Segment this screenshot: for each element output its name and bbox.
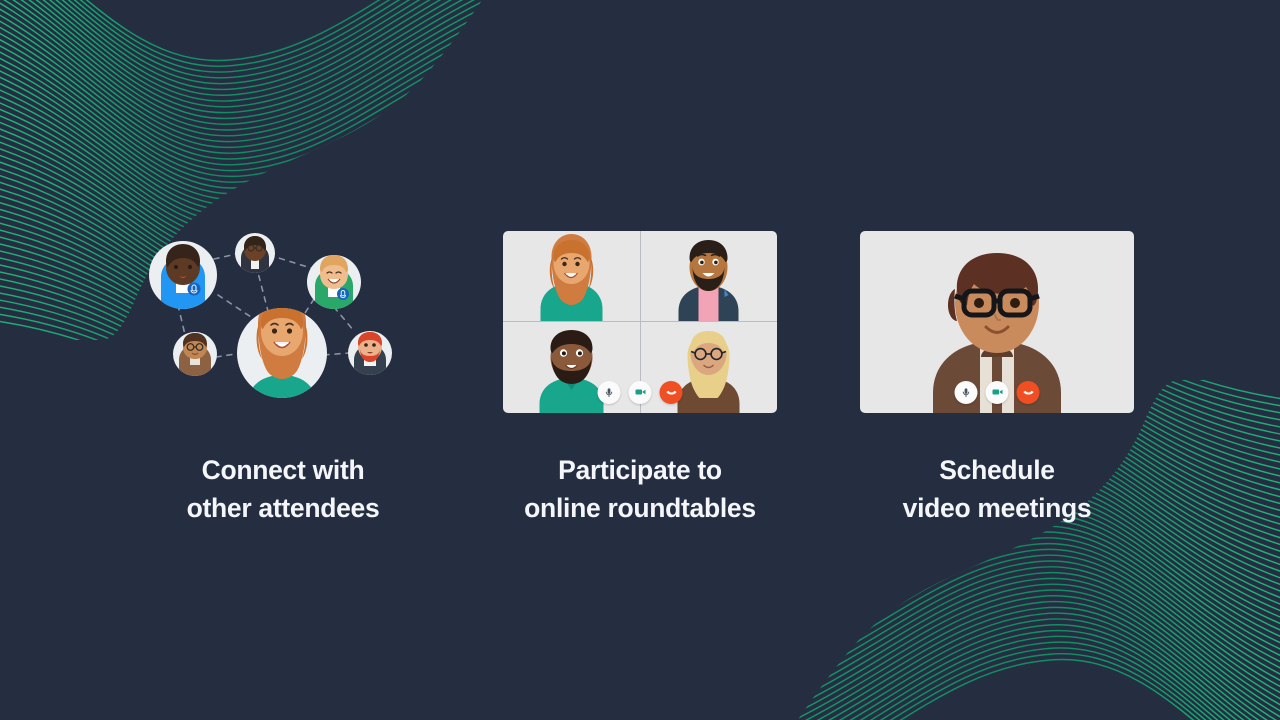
call-controls-grid [598,381,683,404]
camera-button[interactable] [986,381,1009,404]
microphone-icon [604,387,615,398]
avatar-man-green [307,255,361,311]
hangup-button[interactable] [660,381,683,404]
video-camera-icon [991,386,1003,398]
feature-caption-roundtables: Participate to online roundtables [524,452,756,527]
video-tile-top-left[interactable] [503,231,640,322]
four-person-video-grid [503,214,777,429]
camera-button[interactable] [629,381,652,404]
avatar-woman-glasses-top [235,233,275,274]
video-camera-icon [634,386,646,398]
video-grid-panel[interactable] [503,231,777,413]
microphone-button[interactable] [955,381,978,404]
avatar-man-redbeard [348,331,392,378]
video-tile-top-right[interactable] [640,231,777,322]
feature-caption-schedule: Schedule video meetings [903,452,1092,527]
phone-hangup-icon [1022,386,1034,398]
single-person-video-call [860,214,1134,429]
phone-hangup-icon [665,386,677,398]
avatar-kid-glasses [173,332,217,378]
attendee-network-illustration [138,214,428,429]
slide-canvas: Connect with other attendees [0,0,1280,720]
avatar-woman-center [237,297,327,417]
grid-divider-horizontal [503,321,777,322]
call-controls-solo [955,381,1040,404]
feature-list: Connect with other attendees [0,214,1280,527]
hangup-button[interactable] [1017,381,1040,404]
feature-connect[interactable]: Connect with other attendees [105,214,462,527]
avatar-woman-blue [149,241,217,311]
microphone-button[interactable] [598,381,621,404]
feature-caption-connect: Connect with other attendees [187,452,380,527]
feature-roundtables[interactable]: Participate to online roundtables [462,214,819,527]
video-call-panel[interactable] [860,231,1134,413]
feature-schedule[interactable]: Schedule video meetings [819,214,1176,527]
microphone-icon [961,387,972,398]
